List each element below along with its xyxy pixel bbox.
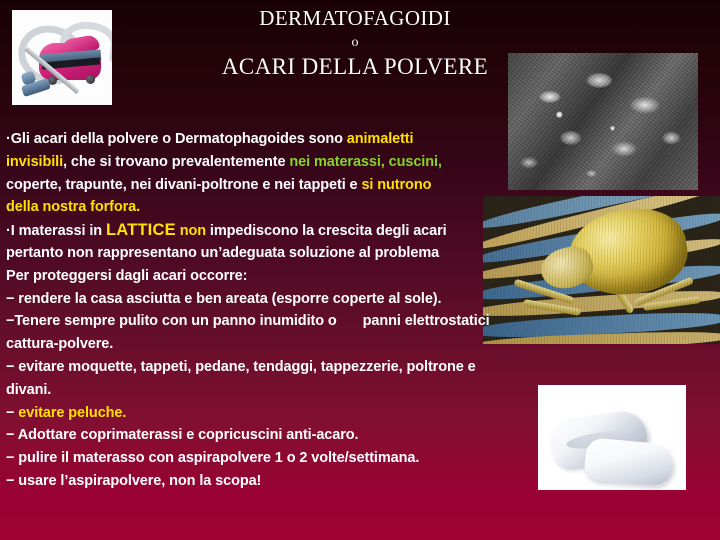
body-line-12: divani. [6, 379, 490, 402]
body-line-14: − Adottare coprimaterassi e copricuscini… [6, 424, 490, 447]
text-run: − [6, 405, 18, 421]
text-run: ·Gli acari della polvere o Dermatophagoi… [6, 131, 347, 147]
colorized-dust-mite-image [483, 196, 720, 344]
body-line-4: della nostra forfora. [6, 196, 490, 219]
slide-body-text: ·Gli acari della polvere o Dermatophagoi… [6, 128, 490, 493]
text-run-highlight: invisibili [6, 154, 63, 170]
text-run-highlight: della nostra forfora. [6, 199, 140, 215]
body-line-15: − pulire il materasso con aspirapolvere … [6, 447, 490, 470]
body-line-5: ·I materassi in LATTICE non impediscono … [6, 219, 490, 242]
text-run: divani. [6, 382, 51, 398]
pillows-image [538, 385, 686, 490]
text-run: − rendere la casa asciutta e ben areata … [6, 291, 441, 307]
body-line-6: pertanto non rappresentano un’adeguata s… [6, 242, 490, 265]
body-line-10: cattura-polvere. [6, 333, 490, 356]
title-line-primary: DERMATOFAGOIDI [150, 8, 560, 29]
text-run: −Tenere sempre pulito con un panno inumi… [6, 313, 337, 329]
text-run: pertanto non rappresentano un’adeguata s… [6, 245, 439, 261]
body-line-13: − evitare peluche. [6, 402, 490, 425]
text-run: cattura-polvere. [6, 336, 113, 352]
body-line-9: −Tenere sempre pulito con un panno inumi… [6, 310, 490, 333]
body-line-16: − usare l’aspirapolvere, non la scopa! [6, 470, 490, 493]
text-run: − pulire il materasso con aspirapolvere … [6, 450, 419, 466]
body-line-2: invisibili, che si trovano prevalentemen… [6, 151, 490, 174]
vacuum-cleaner-image [12, 10, 112, 105]
text-run-highlight: nei materassi, cuscini, [289, 154, 441, 170]
mite-texture-overlay [483, 196, 720, 344]
text-run: coperte, trapunte, nei divani-poltrone e… [6, 177, 361, 193]
slide-title: DERMATOFAGOIDI o ACARI DELLA POLVERE [150, 8, 560, 78]
body-line-11: − evitare moquette, tappeti, pedane, ten… [6, 356, 490, 379]
text-run-lattice: LATTICE [106, 221, 176, 239]
text-run: ·I materassi in [6, 223, 106, 239]
body-line-1: ·Gli acari della polvere o Dermatophagoi… [6, 128, 490, 151]
body-line-3: coperte, trapunte, nei divani-poltrone e… [6, 174, 490, 197]
pillow-bottom [583, 437, 674, 487]
text-run: − Adottare coprimaterassi e copricuscini… [6, 427, 358, 443]
text-run: impediscono la crescita degli acari [206, 223, 447, 239]
text-run-highlight: non [176, 223, 206, 239]
title-conjunction: o [150, 36, 560, 50]
presentation-slide: DERMATOFAGOIDI o ACARI DELLA POLVERE ·Gl… [0, 0, 720, 540]
text-run: Per proteggersi dagli acari occorre: [6, 268, 247, 284]
text-run-highlight: evitare peluche. [18, 405, 126, 421]
text-run: − usare l’aspirapolvere, non la scopa! [6, 473, 261, 489]
text-run: panni elettrostatici [363, 313, 490, 329]
text-run-highlight: animaletti [347, 131, 414, 147]
title-line-secondary: ACARI DELLA POLVERE [150, 55, 560, 78]
body-line-7: Per proteggersi dagli acari occorre: [6, 265, 490, 288]
text-run: , che si trovano prevalentemente [63, 154, 289, 170]
vacuum-wheel [86, 75, 95, 84]
text-run-highlight: si nutrono [361, 177, 431, 193]
text-run: − evitare moquette, tappeti, pedane, ten… [6, 359, 476, 375]
body-line-8: − rendere la casa asciutta e ben areata … [6, 288, 490, 311]
